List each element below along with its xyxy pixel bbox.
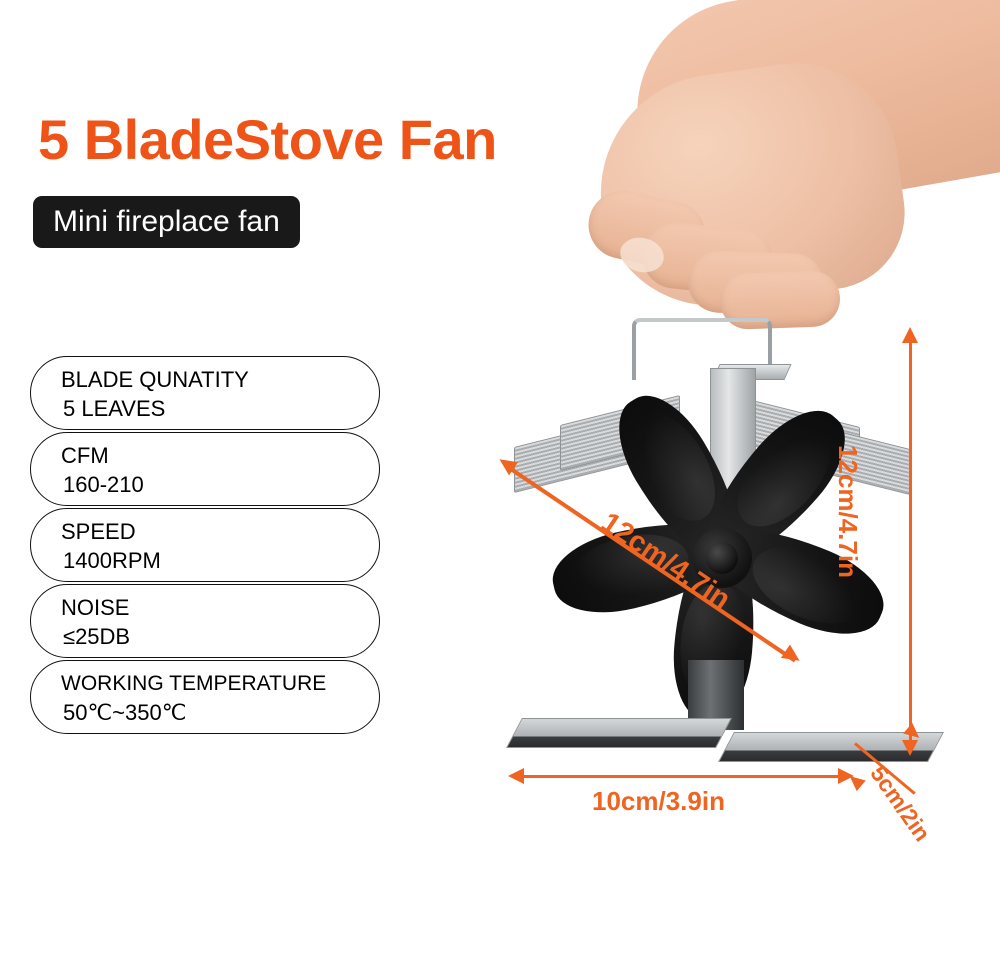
spec-label: NOISE: [61, 593, 379, 622]
product-infographic: 5 BladeStove Fan Mini fireplace fan BLAD…: [0, 0, 1000, 962]
height-dimension-label: 12cm/4.7in: [835, 445, 861, 578]
width-dimension-label: 10cm/3.9in: [592, 788, 725, 814]
spec-value: 160-210: [61, 470, 379, 499]
arrow-down-icon: [902, 740, 918, 756]
spec-label: BLADE QUNATITY: [61, 365, 379, 394]
spec-label: WORKING TEMPERATURE: [61, 669, 379, 698]
spec-value: 5 LEAVES: [61, 394, 379, 423]
base-plate-left: [506, 718, 732, 748]
spec-value: ≤25DB: [61, 622, 379, 651]
spec-value: 50℃~350℃: [61, 698, 379, 727]
subtitle-badge-label: Mini fireplace fan: [53, 207, 280, 237]
spec-pill-speed: SPEED 1400RPM: [30, 508, 380, 582]
subtitle-badge: Mini fireplace fan: [33, 196, 300, 248]
spec-label: SPEED: [61, 517, 379, 546]
spec-pill-blade-quantity: BLADE QUNATITY 5 LEAVES: [30, 356, 380, 430]
spec-pill-working-temperature: WORKING TEMPERATURE 50℃~350℃: [30, 660, 380, 734]
arrow-left-icon: [508, 768, 524, 784]
spec-pill-noise: NOISE ≤25DB: [30, 584, 380, 658]
spec-pill-cfm: CFM 160-210: [30, 432, 380, 506]
width-dimension-line: [523, 775, 841, 778]
spec-list: BLADE QUNATITY 5 LEAVES CFM 160-210 SPEE…: [30, 356, 380, 736]
product-photo: [420, 0, 1000, 900]
spec-label: CFM: [61, 441, 379, 470]
spec-value: 1400RPM: [61, 546, 379, 575]
arrow-up-icon: [902, 327, 918, 343]
fan-hub-cap: [706, 542, 738, 574]
height-dimension-line: [909, 340, 912, 750]
